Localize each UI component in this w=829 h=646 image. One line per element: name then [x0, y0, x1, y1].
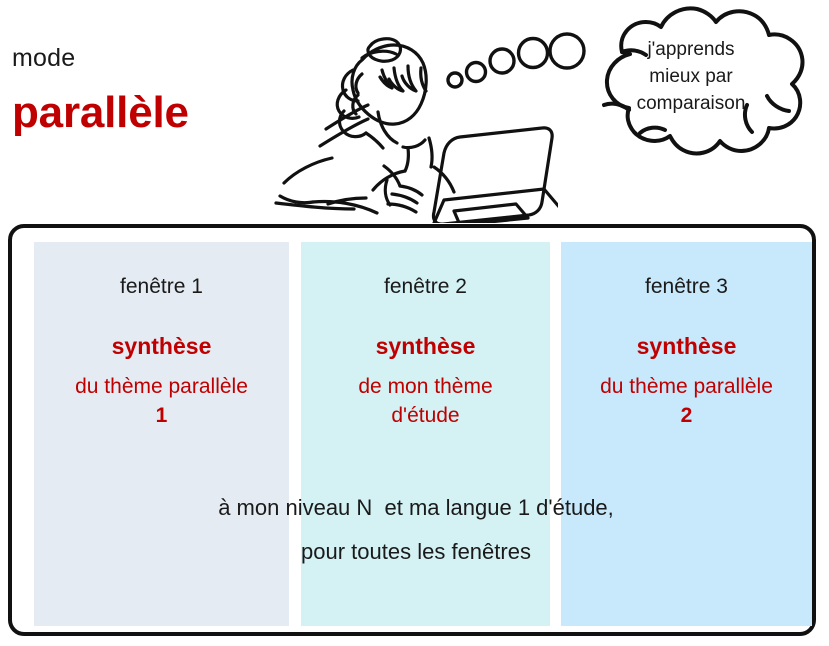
thought-bubble-line-3: comparaison — [596, 90, 786, 117]
window-column-2[interactable]: fenêtre 2 synthèse de mon thème d'étude — [301, 242, 550, 626]
window-1-synthesis-sub: du thème parallèle 1 — [34, 372, 289, 430]
parallel-mode-panel: fenêtre 1 synthèse du thème parallèle 1 … — [8, 224, 816, 636]
window-3-synthesis-title: synthèse — [561, 332, 812, 360]
page-title: parallèle — [12, 88, 189, 138]
window-2-title: fenêtre 2 — [301, 274, 550, 300]
window-3-synthesis-sub: du thème parallèle 2 — [561, 372, 812, 430]
window-column-3[interactable]: fenêtre 3 synthèse du thème parallèle 2 — [561, 242, 812, 626]
header-area: mode parallèle — [0, 0, 829, 224]
window-column-1[interactable]: fenêtre 1 synthèse du thème parallèle 1 — [34, 242, 289, 626]
window-1-synthesis-title: synthèse — [34, 332, 289, 360]
window-2-synthesis-line-2: d'étude — [301, 401, 550, 430]
window-3-title: fenêtre 3 — [561, 274, 812, 300]
window-2-synthesis-title: synthèse — [301, 332, 550, 360]
window-2-synthesis-sub: de mon thème d'étude — [301, 372, 550, 430]
mode-label: mode — [12, 44, 75, 73]
window-1-title: fenêtre 1 — [34, 274, 289, 300]
thought-bubble-text: j'apprends mieux par comparaison — [596, 36, 786, 117]
window-1-synthesis-number: 1 — [34, 401, 289, 430]
thought-bubble-line-1: j'apprends — [596, 36, 786, 63]
thought-bubble-line-2: mieux par — [596, 63, 786, 90]
window-3-synthesis-line-1: du thème parallèle — [561, 372, 812, 401]
windows-columns: fenêtre 1 synthèse du thème parallèle 1 … — [12, 228, 820, 640]
window-2-synthesis-line-1: de mon thème — [301, 372, 550, 401]
window-1-synthesis-line-1: du thème parallèle — [34, 372, 289, 401]
window-3-synthesis-number: 2 — [561, 401, 812, 430]
